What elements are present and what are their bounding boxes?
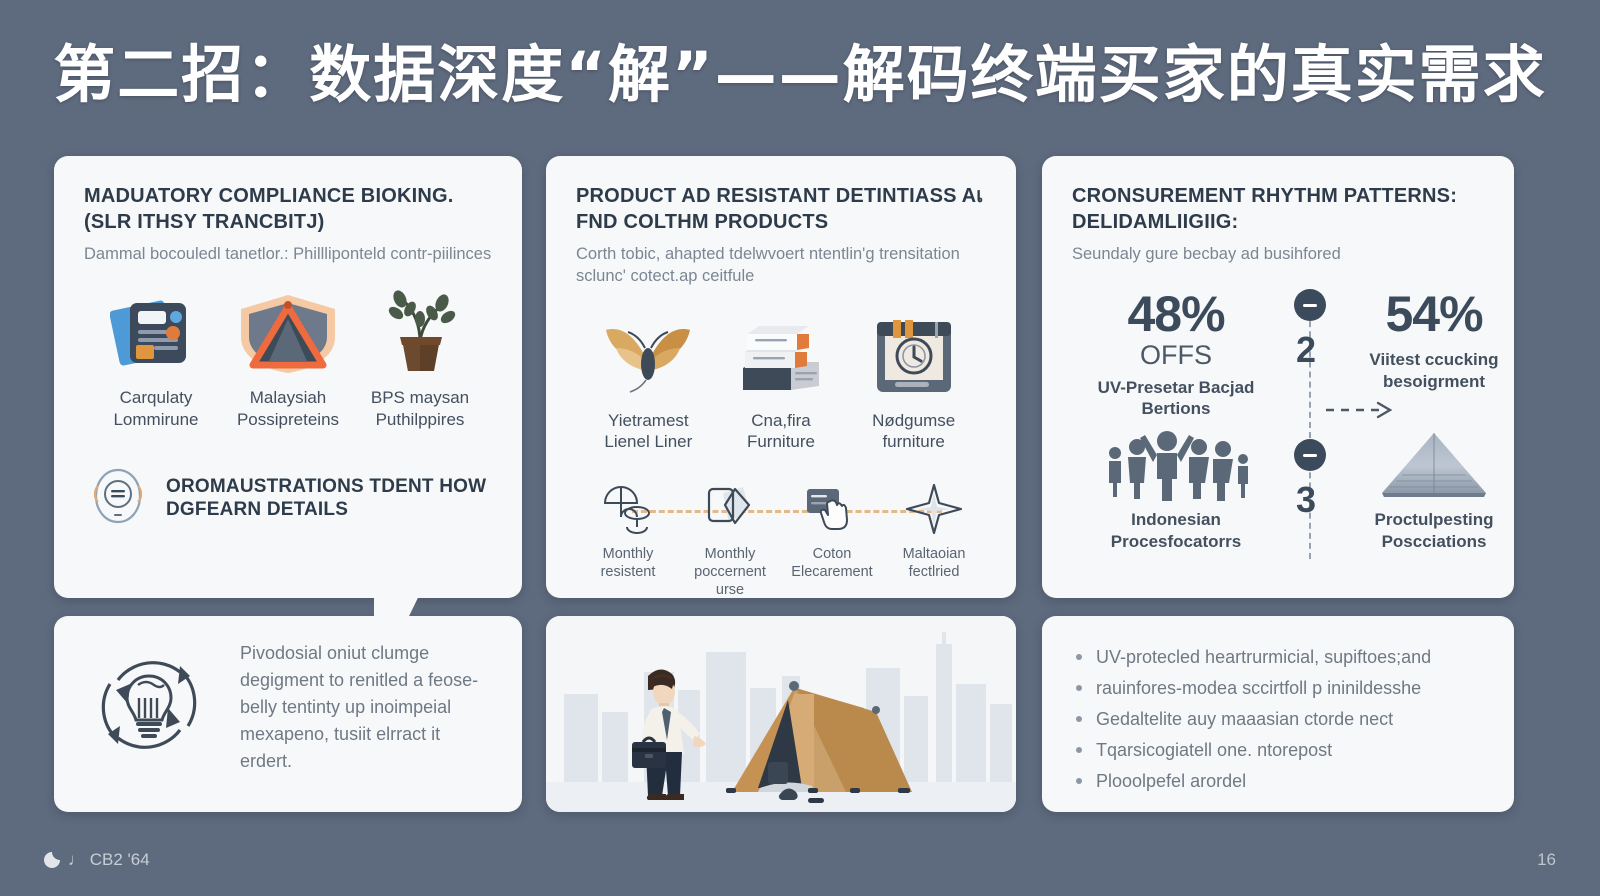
axis-step-one: 2	[1296, 329, 1316, 371]
umbrella-rotate-icon	[578, 478, 678, 540]
card1-title: MADUATORY COMPLIANCE BIOKING. (SLR ITHSY…	[84, 184, 492, 235]
card-mandatory-compliance: MADUATORY COMPLIANCE BIOKING. (SLR ITHSY…	[54, 156, 522, 598]
stat-bottom-left[interactable]: Indonesian Procesfocatorrs	[1076, 429, 1276, 552]
businessman-and-tent-illustration	[546, 616, 1016, 812]
card1-callout-text: OROMAUSTRATIONS TDENT HOW DGFEARN DETAIL…	[166, 475, 492, 523]
sparkle-star-icon	[884, 478, 984, 540]
speech-bubble-tail	[374, 596, 434, 620]
card2-icon-row: Yietramest Lienel Liner	[576, 314, 986, 453]
card2-title: PRODUCT AD RESISTANT DETINTIASS Aเ FND C…	[576, 184, 986, 235]
card2-timeline-0[interactable]: Monthly resistent	[578, 478, 678, 598]
pyramid-chart-icon	[1334, 429, 1514, 503]
stat-top-right-label: Viitest ccucking besoigrment	[1334, 349, 1514, 392]
card3-subtitle: Seundaly gure becbay ad busihfored	[1072, 243, 1484, 265]
stat-top-left-label: UV-Presetar Bacjad Bertions	[1076, 377, 1276, 420]
family-group-icon	[1076, 429, 1276, 503]
card-product-resistant: PRODUCT AD RESISTANT DETINTIASS Aเ FND C…	[546, 156, 1016, 598]
card2-timeline-3[interactable]: Maltaoian fectlried	[884, 478, 984, 598]
stat-bottom-right-label: Proctulpesting Poscciations	[1334, 509, 1514, 552]
card2-item-2-label: Nødgumse furniture	[849, 410, 979, 453]
page-number: 16	[1537, 850, 1556, 870]
stat-top-right-value: 54%	[1334, 289, 1514, 339]
certificate-document-icon	[91, 291, 221, 375]
screen-hand-icon	[782, 478, 882, 540]
stat-top-left-value: 48%	[1076, 289, 1276, 339]
card2-item-1[interactable]: Cna,fira Furniture	[716, 314, 846, 453]
card2-timeline: Monthly resistent Monthly poccernent urs…	[576, 478, 986, 598]
head-profile-icon	[86, 464, 150, 533]
slide-title-bar: 第二招：数据深度“解”——解码终端买家的真实需求	[0, 14, 1600, 124]
card1-icon-row: Carqulaty Lommirune Malaysiah Pos	[84, 291, 492, 430]
list-item: Plooolpefel arordel	[1076, 766, 1484, 797]
stat-top-right[interactable]: 54% Viitest ccucking besoigrment	[1334, 289, 1514, 392]
card2-timeline-0-label: Monthly resistent	[578, 546, 678, 581]
card-diamond-icon	[680, 478, 780, 540]
brand-logo-icon	[44, 852, 60, 868]
footer-label: ♩ CB2 '64	[68, 850, 150, 870]
card2-subtitle: Corth tobic, ahapted tdelwvoert ntentlin…	[576, 243, 986, 288]
card-bullet-summary: UV-protecled heartrurmicial, supiftoes;a…	[1042, 616, 1514, 812]
slide-root: 第二招：数据深度“解”——解码终端买家的真实需求 MADUATORY COMPL…	[0, 0, 1600, 896]
shield-tent-icon	[223, 291, 353, 375]
card1-item-0[interactable]: Carqulaty Lommirune	[91, 291, 221, 430]
card1-item-2[interactable]: BPS maysan Puthilppires	[355, 291, 485, 430]
stat-top-left[interactable]: 48% OFFS UV-Presetar Bacjad Bertions	[1076, 289, 1276, 419]
list-item: Tqarsicogiatell one. ntorepost	[1076, 735, 1484, 766]
card2-timeline-2[interactable]: Coton Elecarement	[782, 478, 882, 598]
card2-timeline-1[interactable]: Monthly poccernent urse	[680, 478, 780, 598]
stat-bottom-left-label: Indonesian Procesfocatorrs	[1076, 509, 1276, 552]
card1-item-0-label: Carqulaty Lommirune	[91, 387, 221, 430]
card4-text: Pivodosial oniut clumge degigment to ren…	[240, 640, 492, 775]
card3-title: CRONSUREMENT RHYTHM PATTERNS: DELIDAMLII…	[1072, 184, 1484, 235]
potted-plant-icon	[355, 291, 485, 375]
stacked-books-icon	[716, 314, 846, 398]
list-item: Gedaltelite auy maaasian ctorde nect	[1076, 704, 1484, 735]
card1-item-2-label: BPS maysan Puthilppires	[355, 387, 485, 430]
list-item: UV-protecled heartrurmicial, supiftoes;a…	[1076, 642, 1484, 673]
card1-item-1-label: Malaysiah Possipreteins	[223, 387, 353, 430]
card2-timeline-2-label: Coton Elecarement	[782, 546, 882, 581]
stat-bottom-right[interactable]: Proctulpesting Poscciations	[1334, 429, 1514, 552]
butterfly-leaf-icon	[583, 314, 713, 398]
card2-timeline-1-label: Monthly poccernent urse	[680, 546, 780, 598]
card2-item-0-label: Yietramest Lienel Liner	[583, 410, 713, 453]
card3-stats: 2 3 48% OFFS UV-Presetar Bacjad Bertions	[1072, 283, 1484, 583]
card6-bullet-list: UV-protecled heartrurmicial, supiftoes;a…	[1042, 616, 1514, 797]
card1-item-1[interactable]: Malaysiah Possipreteins	[223, 291, 353, 430]
footer-branding: ♩ CB2 '64	[44, 850, 150, 870]
card-consumption-rhythm: CRONSUREMENT RHYTHM PATTERNS: DELIDAMLII…	[1042, 156, 1514, 598]
lightbulb-cycle-icon	[84, 640, 214, 775]
card-illustration	[546, 616, 1016, 812]
card1-subtitle: Dammal bocouledl tanetlor.: Phillliponte…	[84, 243, 492, 265]
card2-item-2[interactable]: Nødgumse furniture	[849, 314, 979, 453]
page-title: 第二招：数据深度“解”——解码终端买家的真实需求	[53, 24, 1547, 114]
card1-callout[interactable]: OROMAUSTRATIONS TDENT HOW DGFEARN DETAIL…	[86, 464, 492, 533]
card2-item-1-label: Cna,fira Furniture	[716, 410, 846, 453]
stat-top-left-mid: OFFS	[1076, 341, 1276, 371]
axis-arrow-icon	[1324, 401, 1402, 424]
canister-clock-icon	[849, 314, 979, 398]
card2-item-0[interactable]: Yietramest Lienel Liner	[583, 314, 713, 453]
axis-step-two: 3	[1296, 479, 1316, 521]
card-insight-note: Pivodosial oniut clumge degigment to ren…	[54, 616, 522, 812]
list-item: rauinfores-modea sccirtfoll p ininildess…	[1076, 673, 1484, 704]
axis-node-top	[1294, 289, 1326, 321]
card2-timeline-3-label: Maltaoian fectlried	[884, 546, 984, 581]
axis-node-bottom	[1294, 439, 1326, 471]
